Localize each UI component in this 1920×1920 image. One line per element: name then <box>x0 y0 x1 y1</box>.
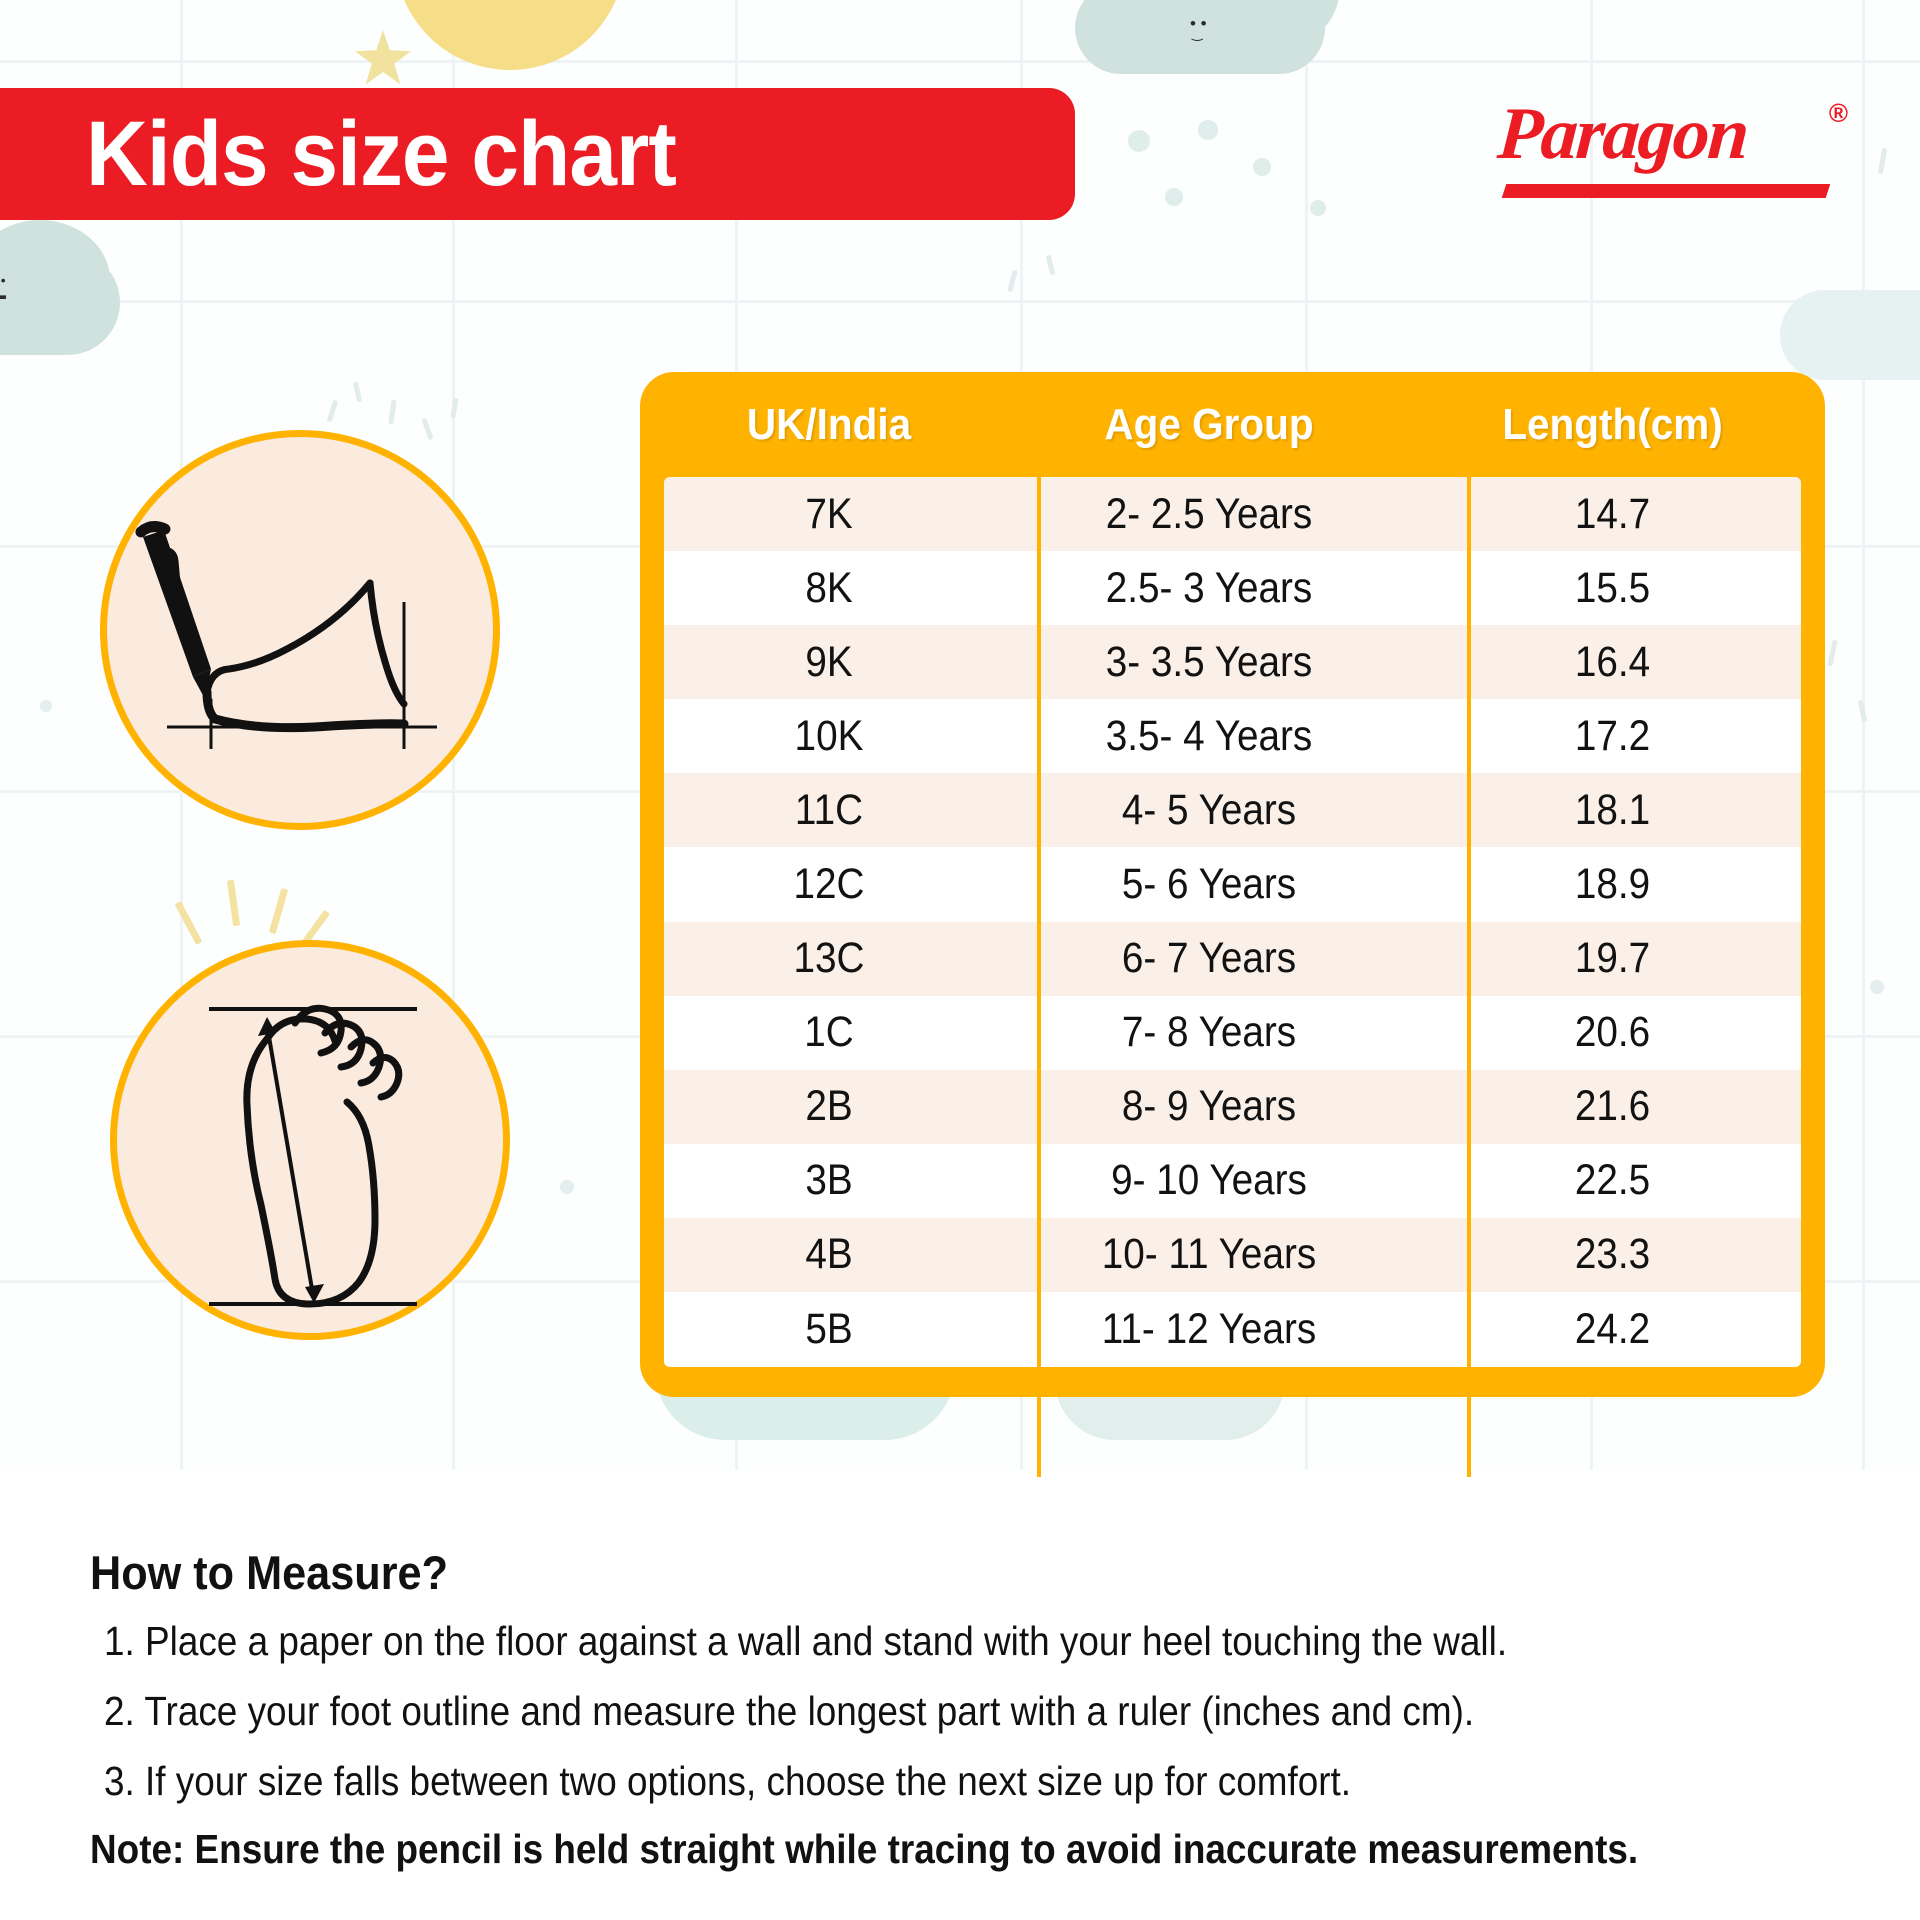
cell-length-cm: 16.4 <box>1443 641 1782 684</box>
cell-length-cm: 23.3 <box>1443 1233 1782 1276</box>
sparkle-icon <box>388 400 396 424</box>
cell-age-group: 4- 5 Years <box>1016 789 1403 832</box>
sparkle-icon <box>1878 148 1887 174</box>
page-title: Kids size chart <box>86 108 676 200</box>
table-row: 7K 2- 2.5 Years 14.7 <box>664 477 1801 551</box>
foot-sole-svg <box>117 947 503 1333</box>
cell-uk-india: 7K <box>681 493 978 536</box>
sparkle-icon <box>1870 980 1884 994</box>
sparkle-icon <box>40 700 52 712</box>
cell-age-group: 3.5- 4 Years <box>1016 715 1403 758</box>
pencil-body-icon <box>143 530 211 677</box>
raindrop-icon <box>1198 120 1218 140</box>
table-row: 9K 3- 3.5 Years 16.4 <box>664 625 1801 699</box>
cell-age-group: 8- 9 Years <box>1016 1085 1403 1128</box>
cell-uk-india: 11C <box>681 789 978 832</box>
cell-age-group: 7- 8 Years <box>1016 1011 1403 1054</box>
cell-age-group: 10- 11 Years <box>1016 1233 1403 1276</box>
size-table-body: 7K 2- 2.5 Years 14.7 8K 2.5- 3 Years 15.… <box>664 477 1801 1367</box>
how-to-note: Note: Ensure the pencil is held straight… <box>90 1826 1638 1873</box>
table-row: 10K 3.5- 4 Years 17.2 <box>664 699 1801 773</box>
paragon-logo: Paragon ® <box>1490 92 1850 210</box>
star-icon <box>355 30 411 86</box>
ray-icon <box>269 888 288 934</box>
how-to-measure-section: How to Measure? 1. Place a paper on the … <box>0 1470 1920 1920</box>
column-header-uk-india: UK/India <box>677 400 981 450</box>
cell-age-group: 9- 10 Years <box>1016 1159 1403 1202</box>
cell-length-cm: 24.2 <box>1443 1308 1782 1351</box>
sparkle-icon <box>1827 640 1837 666</box>
table-row: 2B 8- 9 Years 21.6 <box>664 1070 1801 1144</box>
raindrop-icon <box>1310 200 1326 216</box>
sparkle-icon <box>1046 255 1056 276</box>
table-row: 11C 4- 5 Years 18.1 <box>664 773 1801 847</box>
how-to-step: 2. Trace your foot outline and measure t… <box>104 1688 1474 1735</box>
foot-sole-measure-illustration <box>110 940 510 1340</box>
cell-length-cm: 18.1 <box>1443 789 1782 832</box>
table-row: 3B 9- 10 Years 22.5 <box>664 1144 1801 1218</box>
title-banner: Kids size chart <box>0 88 1075 220</box>
ray-icon <box>227 880 240 927</box>
column-divider <box>1037 477 1041 1477</box>
raindrop-icon <box>1128 130 1150 152</box>
cloud-face-icon: • • <box>0 272 6 288</box>
cell-length-cm: 14.7 <box>1443 493 1782 536</box>
cell-age-group: 11- 12 Years <box>1016 1308 1403 1351</box>
table-row: 1C 7- 8 Years 20.6 <box>664 996 1801 1070</box>
ray-icon <box>175 901 203 945</box>
cell-length-cm: 22.5 <box>1443 1159 1782 1202</box>
table-row: 13C 6- 7 Years 19.7 <box>664 922 1801 996</box>
foot-side-with-pencil-illustration <box>100 430 500 830</box>
how-to-step: 1. Place a paper on the floor against a … <box>104 1618 1507 1665</box>
cloud-smile-icon: ▬ <box>0 288 6 302</box>
table-header-row: UK/India Age Group Length(cm) <box>664 372 1801 477</box>
grid-line-vertical <box>1862 0 1865 1470</box>
cell-length-cm: 21.6 <box>1443 1085 1782 1128</box>
foot-side-svg <box>107 437 493 823</box>
cell-uk-india: 8K <box>681 567 978 610</box>
sparkle-icon <box>1007 270 1018 293</box>
raindrop-icon <box>1165 188 1183 206</box>
column-header-age-group: Age Group <box>1011 400 1407 450</box>
cell-length-cm: 18.9 <box>1443 863 1782 906</box>
how-to-step: 3. If your size falls between two option… <box>104 1758 1351 1805</box>
table-row: 5B 11- 12 Years 24.2 <box>664 1292 1801 1366</box>
sparkle-icon <box>353 382 362 403</box>
cell-length-cm: 17.2 <box>1443 715 1782 758</box>
cell-age-group: 3- 3.5 Years <box>1016 641 1403 684</box>
cell-age-group: 5- 6 Years <box>1016 863 1403 906</box>
cell-uk-india: 12C <box>681 863 978 906</box>
sparkle-icon <box>1858 700 1867 723</box>
grid-line-horizontal <box>0 60 1920 63</box>
cell-uk-india: 3B <box>681 1159 978 1202</box>
logo-underline-bar <box>1502 184 1831 198</box>
cell-length-cm: 19.7 <box>1443 937 1782 980</box>
cell-age-group: 6- 7 Years <box>1016 937 1403 980</box>
table-row: 4B 10- 11 Years 23.3 <box>664 1218 1801 1292</box>
cloud-shape <box>1780 290 1920 380</box>
kids-size-chart-page: • • ‿ • • ▬ <box>0 0 1920 1920</box>
cell-uk-india: 4B <box>681 1233 978 1276</box>
column-divider <box>1467 477 1471 1477</box>
cell-uk-india: 5B <box>681 1308 978 1351</box>
brand-name: Paragon <box>1495 92 1750 177</box>
cell-uk-india: 2B <box>681 1085 978 1128</box>
cell-uk-india: 1C <box>681 1011 978 1054</box>
raindrop-icon <box>1253 158 1271 176</box>
cell-uk-india: 9K <box>681 641 978 684</box>
sparkle-icon <box>560 1180 574 1194</box>
cell-length-cm: 15.5 <box>1443 567 1782 610</box>
cloud-smile-icon: ‿ <box>1192 26 1202 42</box>
cell-uk-india: 13C <box>681 937 978 980</box>
cell-age-group: 2- 2.5 Years <box>1016 493 1403 536</box>
grid-line-horizontal <box>0 300 1920 303</box>
cell-uk-india: 10K <box>681 715 978 758</box>
registered-trademark-icon: ® <box>1829 98 1848 129</box>
cell-length-cm: 20.6 <box>1443 1011 1782 1054</box>
table-row: 8K 2.5- 3 Years 15.5 <box>664 551 1801 625</box>
sparkle-icon <box>327 400 339 422</box>
table-row: 12C 5- 6 Years 18.9 <box>664 847 1801 921</box>
column-header-length-cm: Length(cm) <box>1439 400 1786 450</box>
how-to-measure-title: How to Measure? <box>90 1545 448 1600</box>
cell-age-group: 2.5- 3 Years <box>1016 567 1403 610</box>
size-table-card: UK/India Age Group Length(cm) 7K 2- 2.5 … <box>640 372 1825 1397</box>
